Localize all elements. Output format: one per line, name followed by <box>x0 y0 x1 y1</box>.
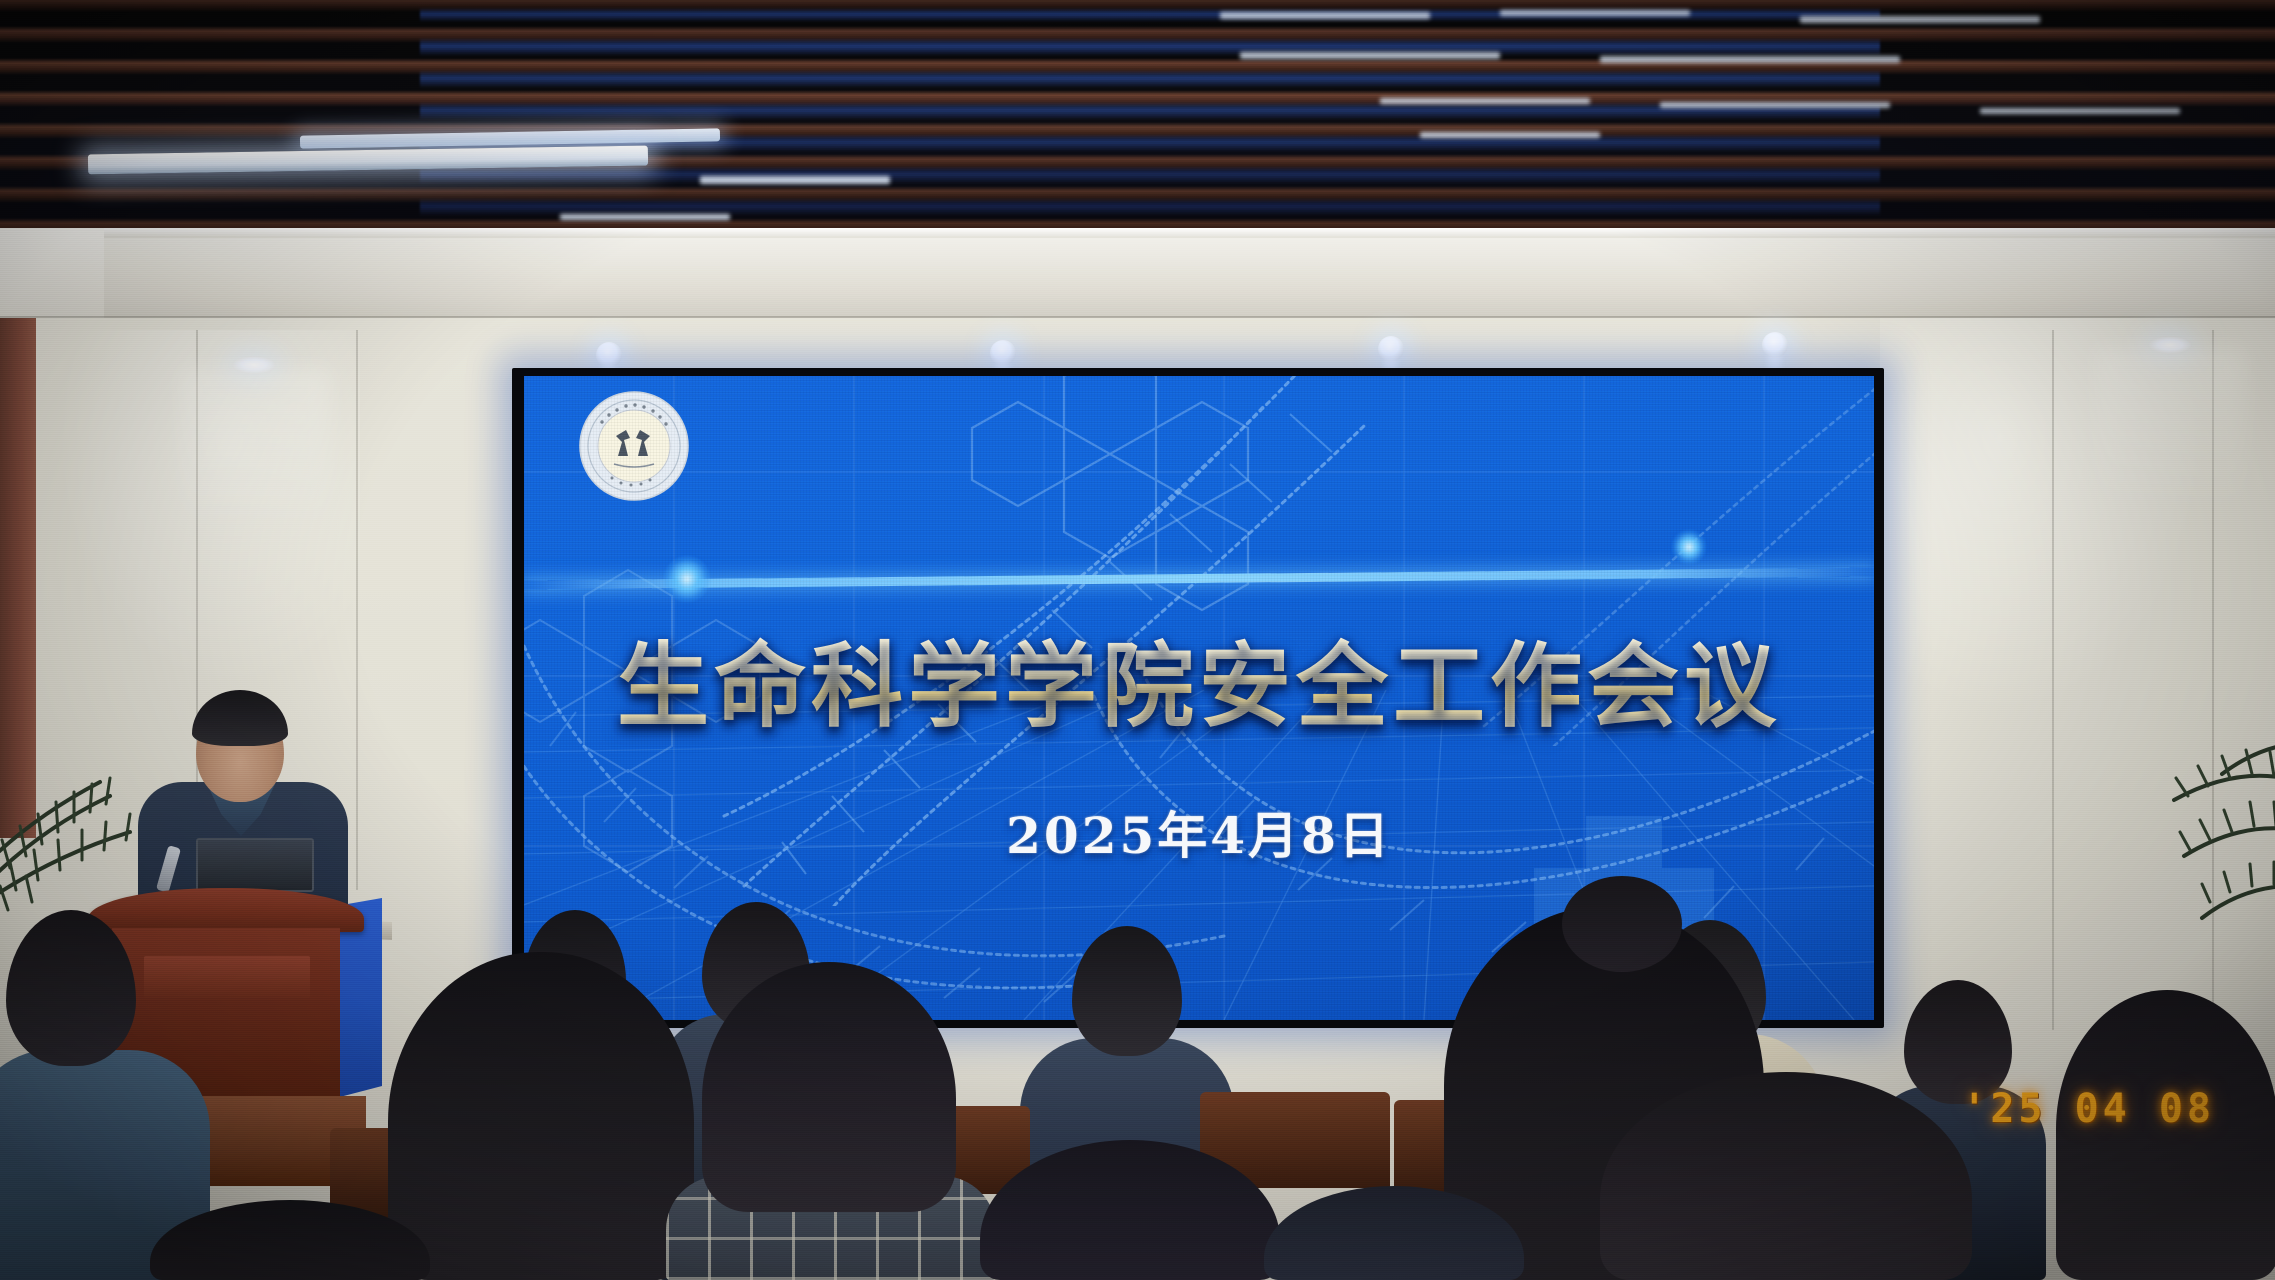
wall-panel-seam <box>2052 330 2054 1030</box>
potted-palm-plant-right <box>2124 660 2275 980</box>
attendee-front-long-hair <box>388 952 694 1280</box>
ceiling-glint <box>1500 10 1690 16</box>
downlight-beam <box>180 368 330 578</box>
slide-date: 2025年4月8日 <box>524 796 1874 868</box>
ceiling-glint <box>700 176 890 184</box>
slide-title: 生命科学学院安全工作会议 <box>524 612 1874 745</box>
ceiling-glint <box>1660 102 1890 108</box>
ceiling-glint <box>1220 12 1430 19</box>
ceiling-glint <box>1420 132 1600 138</box>
podium-laptop <box>196 838 314 892</box>
soffit-edge <box>0 228 2275 238</box>
conference-room-photo: 生命科学学院安全工作会议 生命科学学院安全工作会议 2025年4月8日 <box>0 0 2275 1280</box>
ceiling-soffit <box>0 228 2275 324</box>
camera-timestamp: '25 04 08 <box>1962 1086 2215 1132</box>
ceiling-glint <box>1240 52 1500 59</box>
attendee-silhouette-right <box>1264 1186 1524 1280</box>
attendee-front-right-straight-hair <box>1600 1072 1972 1280</box>
ceiling-glint <box>1380 98 1590 104</box>
attendee-front-plaid <box>680 962 980 1280</box>
ceiling-glint <box>1600 56 1900 63</box>
ceiling-light-sheen <box>420 0 1880 232</box>
attendee-silhouette-centre <box>980 1140 1280 1280</box>
downlight-beam <box>2096 348 2246 558</box>
wall-panel-seam <box>356 330 358 890</box>
ceiling-glint <box>1800 16 2040 23</box>
ceiling-glint <box>1980 108 2180 114</box>
attendee-right-edge <box>2056 990 2275 1280</box>
attendee-silhouette-left <box>150 1200 430 1280</box>
ceiling-glint <box>560 214 730 220</box>
